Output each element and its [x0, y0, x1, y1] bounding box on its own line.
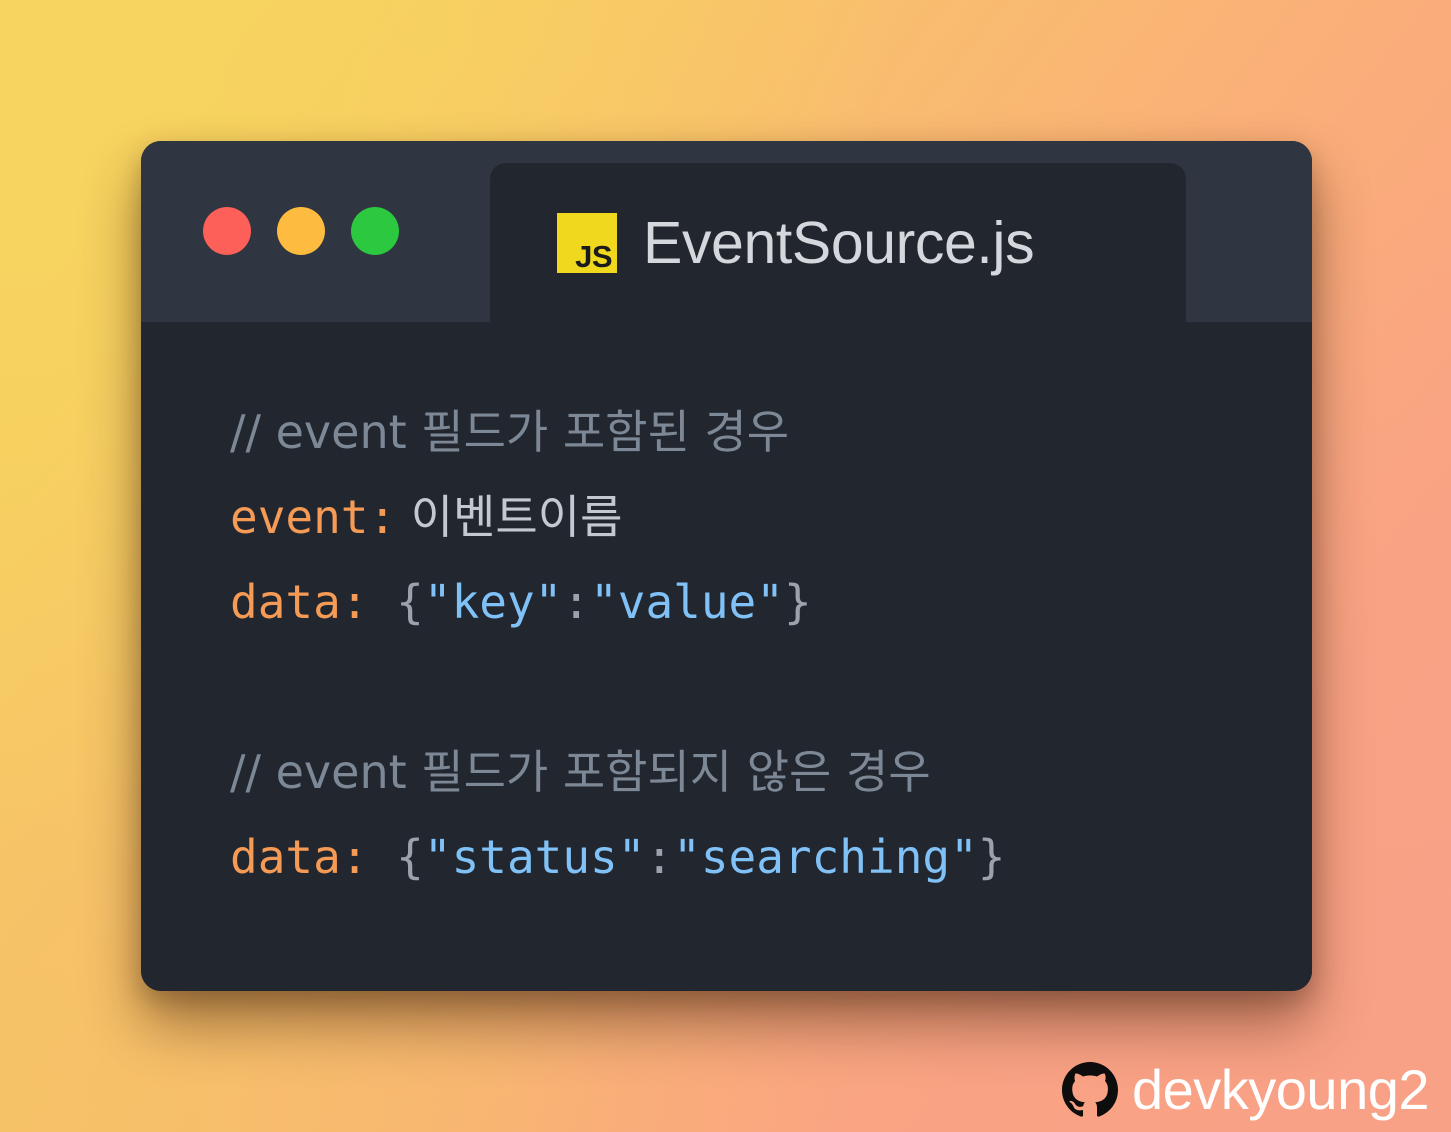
watermark: devkyoung2	[1062, 1062, 1429, 1118]
tab-title: EventSource.js	[643, 209, 1034, 277]
code-line: data: {"key":"value"}	[230, 560, 1312, 645]
code-line: // event 필드가 포함된 경우	[230, 390, 1312, 475]
code-token-string: "status"	[424, 830, 646, 884]
github-username: devkyoung2	[1132, 1062, 1429, 1118]
code-line: // event 필드가 포함되지 않은 경우	[230, 730, 1312, 815]
code-token-punct: {	[368, 575, 423, 629]
github-icon	[1062, 1062, 1118, 1118]
code-line	[230, 645, 1312, 730]
code-token-string: "value"	[590, 575, 784, 629]
code-line: event: 이벤트이름	[230, 475, 1312, 560]
code-token-punct: {	[368, 830, 423, 884]
maximize-button[interactable]	[351, 207, 399, 255]
code-token-key: data:	[230, 575, 368, 629]
code-token-punct: :	[562, 575, 590, 629]
minimize-button[interactable]	[277, 207, 325, 255]
code-window: JS EventSource.js // event 필드가 포함된 경우eve…	[141, 141, 1312, 991]
screenshot-canvas: JS EventSource.js // event 필드가 포함된 경우eve…	[0, 0, 1451, 1132]
code-token-punct: }	[784, 575, 812, 629]
code-token-punct: :	[645, 830, 673, 884]
code-token-comment: // event 필드가 포함되지 않은 경우	[230, 745, 931, 799]
javascript-file-icon: JS	[557, 213, 617, 273]
code-token-punct: }	[978, 830, 1006, 884]
tab-eventsource-js[interactable]: JS EventSource.js	[490, 163, 1186, 322]
close-button[interactable]	[203, 207, 251, 255]
code-token-comment: // event 필드가 포함된 경우	[230, 405, 789, 459]
code-token-string: "key"	[424, 575, 562, 629]
code-token-plain: 이벤트이름	[396, 490, 622, 544]
javascript-file-icon-label: JS	[575, 241, 612, 272]
code-token-key: data:	[230, 830, 368, 884]
traffic-light-group	[203, 207, 399, 255]
code-token-string: "searching"	[673, 830, 978, 884]
code-token-key: event:	[230, 490, 396, 544]
code-line: data: {"status":"searching"}	[230, 815, 1312, 900]
code-line-list: // event 필드가 포함된 경우event: 이벤트이름data: {"k…	[230, 390, 1312, 900]
code-editor-area[interactable]: // event 필드가 포함된 경우event: 이벤트이름data: {"k…	[141, 322, 1312, 991]
